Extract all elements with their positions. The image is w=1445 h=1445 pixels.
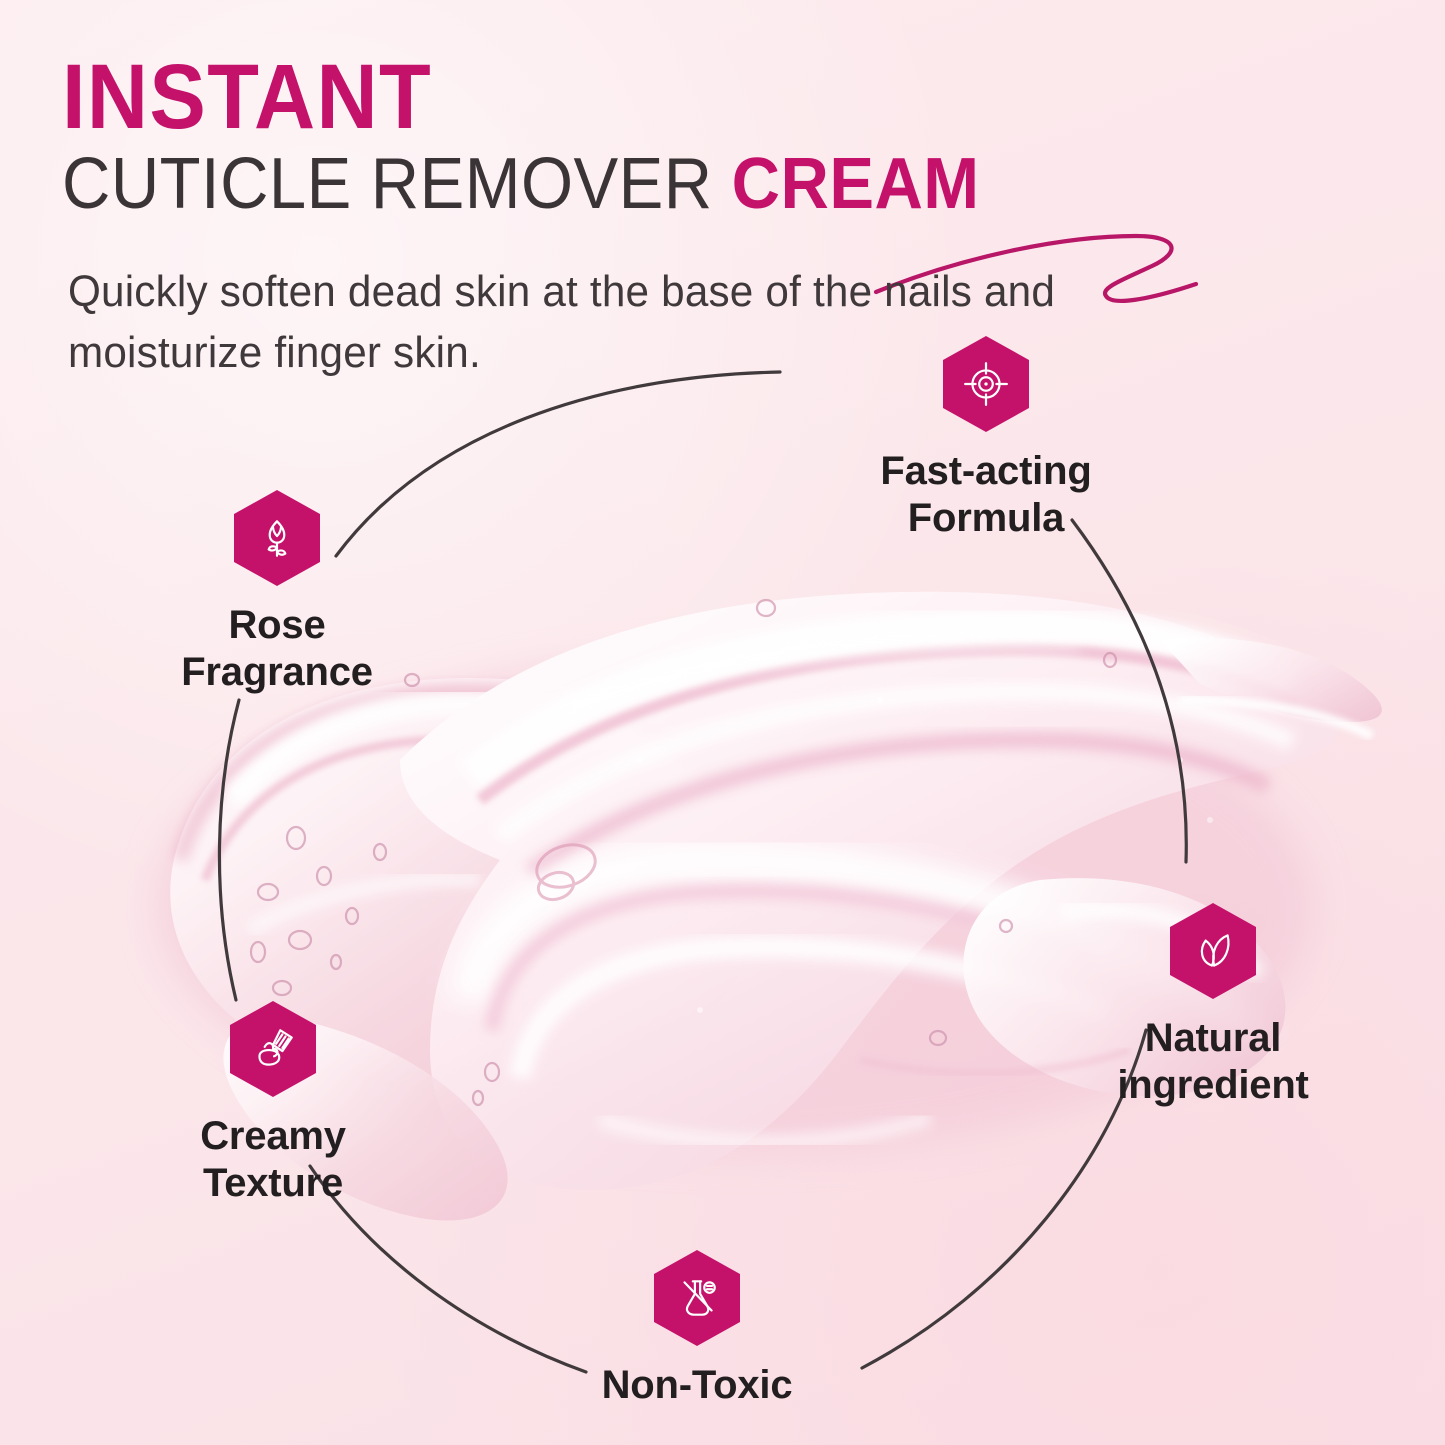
hex-badge-rose-fragrance [234, 490, 320, 586]
feature-label-creamy-texture: Creamy Texture [200, 1113, 346, 1207]
rose-flower-icon [252, 513, 302, 563]
hex-badge-non-toxic [654, 1250, 740, 1346]
feature-label-fast-acting: Fast-acting Formula [880, 448, 1091, 542]
feature-label-rose-fragrance: Rose Fragrance [181, 602, 373, 696]
feature-label-natural-ingredient: Natural ingredient [1117, 1015, 1308, 1109]
feature-badge-non-toxic[interactable]: Non-Toxic [537, 1250, 857, 1409]
cream-swirl-icon [248, 1024, 298, 1074]
target-icon [961, 359, 1011, 409]
feature-badge-rose-fragrance[interactable]: Rose Fragrance [117, 490, 437, 696]
product-infographic: INSTANT CUTICLE REMOVER CREAM Quickly so… [0, 0, 1445, 1445]
no-chemicals-flask-icon [672, 1273, 722, 1323]
page-title: INSTANT [62, 52, 1166, 142]
page-subtitle: CUTICLE REMOVER CREAM [62, 148, 1178, 220]
subtitle-plain: CUTICLE REMOVER [62, 144, 732, 224]
feature-badge-natural-ingredient[interactable]: Natural ingredient [1053, 903, 1373, 1109]
hex-badge-creamy-texture [230, 1001, 316, 1097]
headline-block: INSTANT CUTICLE REMOVER CREAM [62, 52, 1262, 220]
feature-badge-creamy-texture[interactable]: Creamy Texture [113, 1001, 433, 1207]
feature-badge-fast-acting[interactable]: Fast-acting Formula [826, 336, 1146, 542]
subtitle-accent: CREAM [732, 144, 980, 224]
hex-badge-fast-acting [943, 336, 1029, 432]
hex-badge-natural-ingredient [1170, 903, 1256, 999]
feature-label-non-toxic: Non-Toxic [602, 1362, 793, 1409]
leaves-icon [1188, 926, 1238, 976]
